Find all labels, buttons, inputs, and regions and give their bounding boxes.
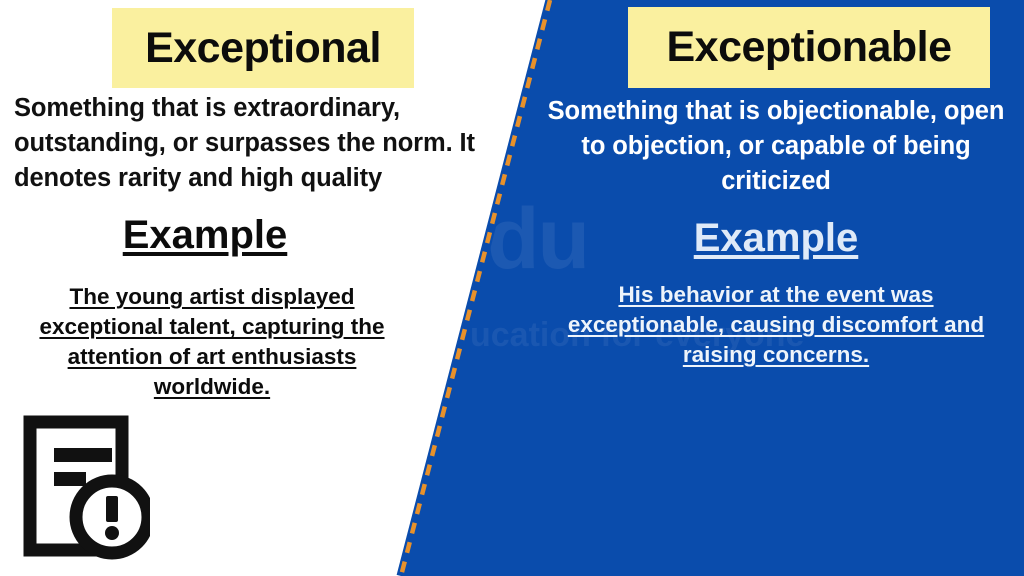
right-title-text: Exceptionable: [666, 26, 951, 69]
comparison-infographic: du ucation for everyone Exceptional Some…: [0, 0, 1024, 576]
left-definition-text: Something that is extraordinary, outstan…: [14, 91, 514, 196]
left-title-band: Exceptional: [112, 8, 414, 88]
right-example-heading: Example: [540, 214, 1012, 262]
left-example-heading: Example: [0, 211, 410, 259]
document-alert-icon: [18, 412, 150, 560]
right-example-text: His behavior at the event was exceptiona…: [540, 280, 1012, 370]
right-title-band: Exceptionable: [628, 7, 990, 88]
left-title-text: Exceptional: [145, 27, 381, 70]
right-definition-text: Something that is objectionable, open to…: [540, 94, 1012, 199]
left-example-text: The young artist displayed exceptional t…: [10, 282, 414, 402]
